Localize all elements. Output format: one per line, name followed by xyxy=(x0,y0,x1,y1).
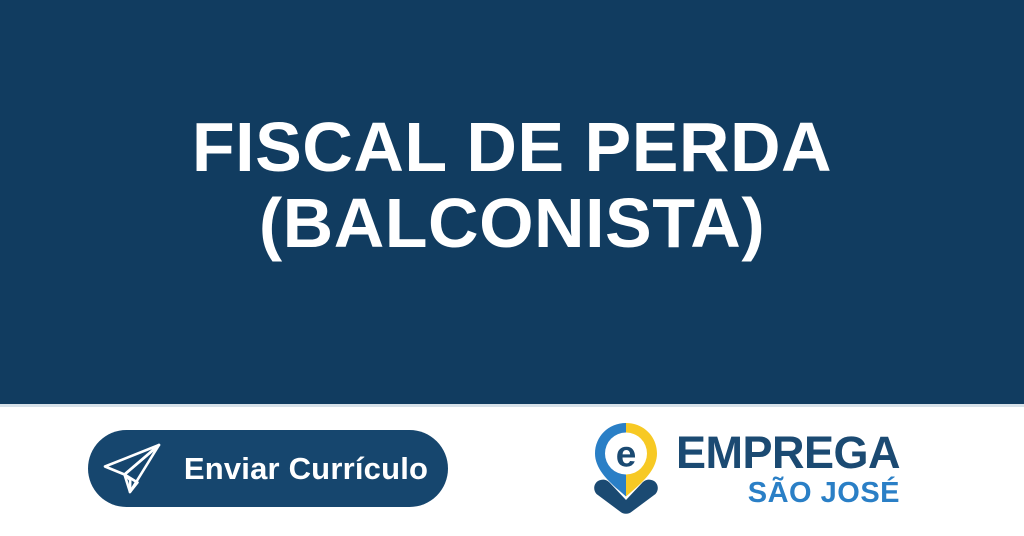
send-cv-button[interactable]: Enviar Currículo xyxy=(88,430,448,507)
brand-name: EMPREGA xyxy=(676,430,900,475)
paper-plane-send-icon xyxy=(100,441,164,497)
send-cv-button-label: Enviar Currículo xyxy=(184,451,428,487)
page-title: FISCAL DE PERDA (BALCONISTA) xyxy=(0,110,1024,261)
brand-logo: e EMPREGA SÃO JOSÉ xyxy=(586,418,926,518)
hero-section: FISCAL DE PERDA (BALCONISTA) xyxy=(0,0,1024,404)
page-title-line-1: FISCAL DE PERDA xyxy=(40,110,984,186)
job-posting-banner: FISCAL DE PERDA (BALCONISTA) Enviar Curr… xyxy=(0,0,1024,536)
location-pin-e-icon: e xyxy=(586,421,666,515)
svg-text:e: e xyxy=(616,434,637,475)
brand-city: SÃO JOSÉ xyxy=(748,479,900,508)
page-title-line-2: (BALCONISTA) xyxy=(40,186,984,262)
brand-wordmark: EMPREGA SÃO JOSÉ xyxy=(676,428,900,508)
